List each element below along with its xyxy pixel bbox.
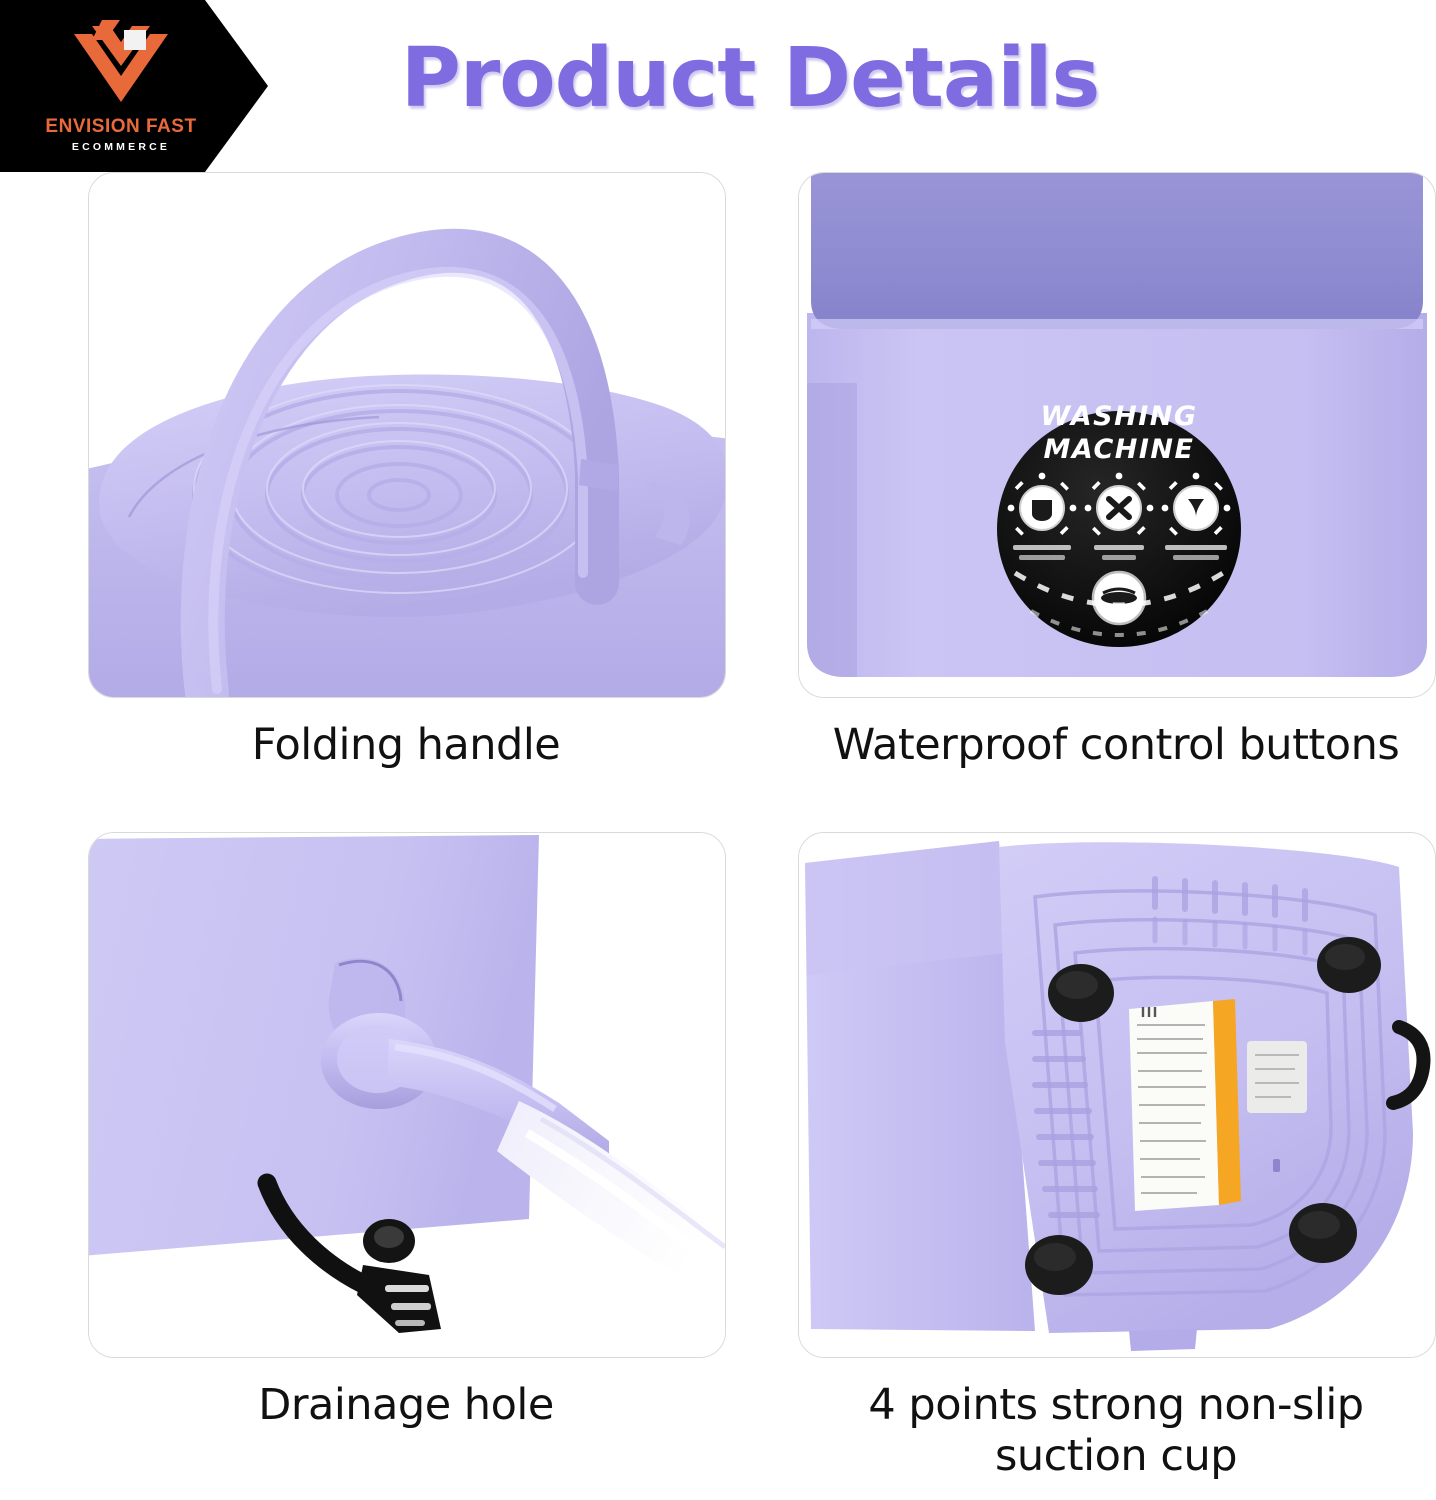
photo-suction-cup — [798, 832, 1436, 1358]
brand-banner: ENVISION FAST ECOMMERCE — [0, 0, 268, 172]
caption-line-2: suction cup — [798, 1431, 1434, 1482]
svg-text:WASHING: WASHING — [1040, 401, 1197, 432]
product-details-grid: Folding handle — [0, 172, 1436, 1500]
page-title: Product Details — [300, 38, 1200, 120]
chevron-logo-icon — [62, 20, 180, 112]
page-header: ENVISION FAST ECOMMERCE Product Details — [0, 0, 1436, 172]
caption-drainage-hole: Drainage hole — [88, 1380, 724, 1431]
svg-text:MACHINE: MACHINE — [1044, 434, 1195, 465]
photo-folding-handle — [88, 172, 726, 698]
detail-panel-suction-cup: 4 points strong non-slip suction cup — [798, 832, 1434, 1481]
detail-panel-drainage-hole: Drainage hole — [88, 832, 724, 1431]
caption-control-buttons: Waterproof control buttons — [798, 720, 1434, 771]
photo-drainage-hole — [88, 832, 726, 1358]
photo-control-buttons: WASHING MACHINE — [798, 172, 1436, 698]
caption-suction-cup: 4 points strong non-slip suction cup — [798, 1380, 1434, 1481]
detail-panel-control-buttons: WASHING MACHINE — [798, 172, 1434, 771]
brand-subtitle: ECOMMERCE — [72, 141, 170, 153]
caption-line-1: 4 points strong non-slip — [798, 1380, 1434, 1431]
caption-folding-handle: Folding handle — [88, 720, 724, 771]
brand-name: ENVISION FAST — [45, 116, 196, 138]
detail-panel-folding-handle: Folding handle — [88, 172, 724, 771]
